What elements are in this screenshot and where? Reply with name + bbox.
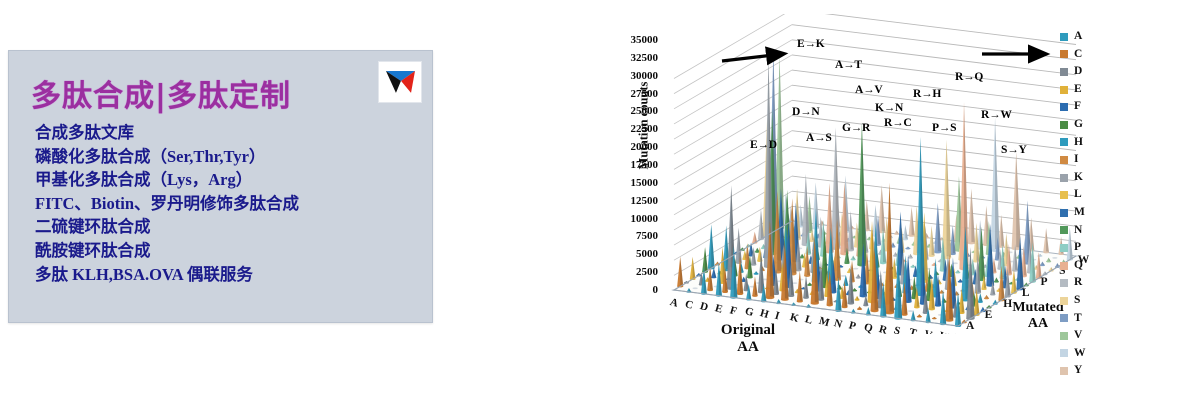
promo-panel: 多肽合成|多肽定制 合成多肽文库 磷酸化多肽合成（Ser,Thr,Tyr） 甲基…	[8, 50, 433, 323]
legend-label: H	[1074, 137, 1083, 149]
legend-item-F[interactable]: F	[1060, 98, 1120, 116]
annotation-K-to-N: K→N	[875, 102, 903, 114]
z-axis-tick: 22500	[631, 124, 659, 135]
cone-marker	[708, 224, 715, 269]
legend-item-L[interactable]: L	[1060, 186, 1120, 204]
legend-label: P	[1074, 242, 1081, 254]
legend-swatch-icon	[1060, 174, 1068, 182]
z-axis-tick: 25000	[631, 106, 659, 117]
z-axis-tick: 10000	[631, 214, 659, 225]
annotation-R-to-Q: R→Q	[955, 71, 983, 83]
legend-swatch-icon	[1060, 226, 1068, 234]
legend-label: A	[1074, 31, 1082, 43]
promo-service-list: 合成多肽文库 磷酸化多肽合成（Ser,Thr,Tyr） 甲基化多肽合成（Lys，…	[35, 121, 425, 286]
legend-label: G	[1074, 119, 1083, 131]
y-axis-tick-P: P	[1041, 276, 1048, 288]
annotation-R-to-H: R→H	[913, 88, 941, 100]
legend-item-T[interactable]: T	[1060, 310, 1120, 328]
z-axis-tick: 15000	[631, 178, 659, 189]
x-axis-title-line1: Original	[721, 322, 775, 338]
annotation-E-to-D: E→D	[750, 139, 777, 151]
legend-item-S[interactable]: S	[1060, 292, 1120, 310]
list-item: 甲基化多肽合成（Lys，Arg）	[35, 168, 425, 192]
legend-item-M[interactable]: M	[1060, 204, 1120, 222]
annotation-D-to-N: D→N	[792, 106, 820, 118]
legend-swatch-icon	[1060, 121, 1068, 129]
legend-label: T	[1074, 313, 1082, 325]
z-axis-tick: 7500	[636, 231, 658, 242]
annotation-R-to-C: R→C	[884, 117, 912, 129]
legend-label: R	[1074, 277, 1082, 289]
legend-item-I[interactable]: I	[1060, 151, 1120, 169]
annotation-P-to-S: P→S	[932, 122, 956, 134]
plot-area: E→KA→TA→VD→NK→NR→HR→QR→CG→RR→WP→SA→SE→DS…	[662, 14, 1112, 334]
legend-swatch-icon	[1060, 244, 1068, 252]
cone-marker	[690, 257, 696, 280]
x-axis-title: Original AA	[688, 322, 808, 357]
y-axis-tick-L: L	[1022, 287, 1030, 299]
legend-swatch-icon	[1060, 50, 1068, 58]
legend-item-W[interactable]: W	[1060, 345, 1120, 363]
cone-marker	[677, 257, 683, 288]
z-axis-tick: 2500	[636, 267, 658, 278]
legend-item-E[interactable]: E	[1060, 81, 1120, 99]
annotation-A-to-V: A→V	[855, 84, 883, 96]
legend-label: Y	[1074, 365, 1082, 377]
legend-swatch-icon	[1060, 279, 1068, 287]
cone-marker	[702, 247, 708, 273]
legend-swatch-icon	[1060, 156, 1068, 164]
legend-item-K[interactable]: K	[1060, 169, 1120, 187]
legend-label: I	[1074, 154, 1078, 166]
annotation-G-to-R: G→R	[842, 122, 870, 134]
x-axis-title-line2: AA	[737, 339, 759, 355]
legend-label: S	[1074, 295, 1080, 307]
legend-label: V	[1074, 330, 1082, 342]
legend-label: E	[1074, 84, 1082, 96]
cone-marker	[735, 228, 741, 264]
list-item: 二硫键环肽合成	[35, 215, 425, 239]
legend-item-D[interactable]: D	[1060, 63, 1120, 81]
legend-label: K	[1074, 172, 1083, 184]
legend-swatch-icon	[1060, 33, 1068, 41]
legend-swatch-icon	[1060, 297, 1068, 305]
y-axis-title-line2: AA	[1028, 316, 1048, 331]
legend: ACDEFGHIKLMNPQRSTVWY	[1060, 28, 1120, 380]
y-axis-tick-A: A	[966, 320, 974, 332]
z-axis-tick: 20000	[631, 142, 659, 153]
z-axis-tick: 32500	[631, 53, 659, 64]
legend-item-N[interactable]: N	[1060, 222, 1120, 240]
y-axis-title-line1: Mutated	[1012, 300, 1063, 315]
legend-label: N	[1074, 225, 1082, 237]
legend-item-Q[interactable]: Q	[1060, 257, 1120, 275]
legend-item-G[interactable]: G	[1060, 116, 1120, 134]
legend-swatch-icon	[1060, 103, 1068, 111]
x-axis-tick-V: V	[923, 328, 934, 334]
company-logo-icon	[378, 61, 422, 103]
legend-item-A[interactable]: A	[1060, 28, 1120, 46]
legend-item-H[interactable]: H	[1060, 134, 1120, 152]
legend-swatch-icon	[1060, 68, 1068, 76]
z-axis-tick: 27500	[631, 89, 659, 100]
legend-swatch-icon	[1060, 86, 1068, 94]
legend-label: W	[1074, 348, 1086, 360]
annotation-S-to-Y: S→Y	[1001, 144, 1027, 156]
legend-label: L	[1074, 189, 1082, 201]
legend-swatch-icon	[1060, 138, 1068, 146]
z-axis-tick: 12500	[631, 196, 659, 207]
legend-swatch-icon	[1060, 262, 1068, 270]
legend-label: C	[1074, 49, 1082, 61]
legend-label: F	[1074, 101, 1081, 113]
list-item: 合成多肽文库	[35, 121, 425, 145]
legend-item-V[interactable]: V	[1060, 327, 1120, 345]
list-item: 多肽 KLH,BSA.OVA 偶联服务	[35, 263, 425, 287]
z-axis-tick: 5000	[636, 249, 658, 260]
annotation-R-to-W: R→W	[981, 109, 1012, 121]
promo-title: 多肽合成|多肽定制	[31, 71, 291, 115]
legend-label: M	[1074, 207, 1085, 219]
legend-swatch-icon	[1060, 314, 1068, 322]
z-axis-tick: 17500	[631, 160, 659, 171]
legend-swatch-icon	[1060, 349, 1068, 357]
x-axis-tick-T: T	[908, 327, 918, 334]
annotation-A-to-T: A→T	[835, 59, 862, 71]
legend-item-C[interactable]: C	[1060, 46, 1120, 64]
z-axis-tick: 0	[653, 285, 659, 296]
z-axis-tick: 30000	[631, 71, 659, 82]
list-item: FITC、Biotin、罗丹明修饰多肽合成	[35, 192, 425, 216]
legend-item-Y[interactable]: Y	[1060, 362, 1120, 380]
legend-label: D	[1074, 66, 1082, 78]
legend-item-R[interactable]: R	[1060, 274, 1120, 292]
z-axis-ticks: 3500032500300002750025000225002000017500…	[606, 40, 658, 290]
trend-arrow-left	[722, 54, 782, 61]
list-item: 酰胺键环肽合成	[35, 239, 425, 263]
legend-swatch-icon	[1060, 191, 1068, 199]
legend-swatch-icon	[1060, 332, 1068, 340]
legend-item-P[interactable]: P	[1060, 239, 1120, 257]
z-axis-tick: 35000	[631, 35, 659, 46]
annotation-A-to-S: A→S	[806, 132, 832, 144]
legend-label: Q	[1074, 260, 1083, 272]
list-item: 磷酸化多肽合成（Ser,Thr,Tyr）	[35, 145, 425, 169]
legend-swatch-icon	[1060, 209, 1068, 217]
legend-swatch-icon	[1060, 367, 1068, 375]
annotation-E-to-K: E→K	[797, 38, 825, 50]
mutation-counts-3d-chart: Mutation counts 350003250030000275002500…	[592, 0, 1200, 400]
